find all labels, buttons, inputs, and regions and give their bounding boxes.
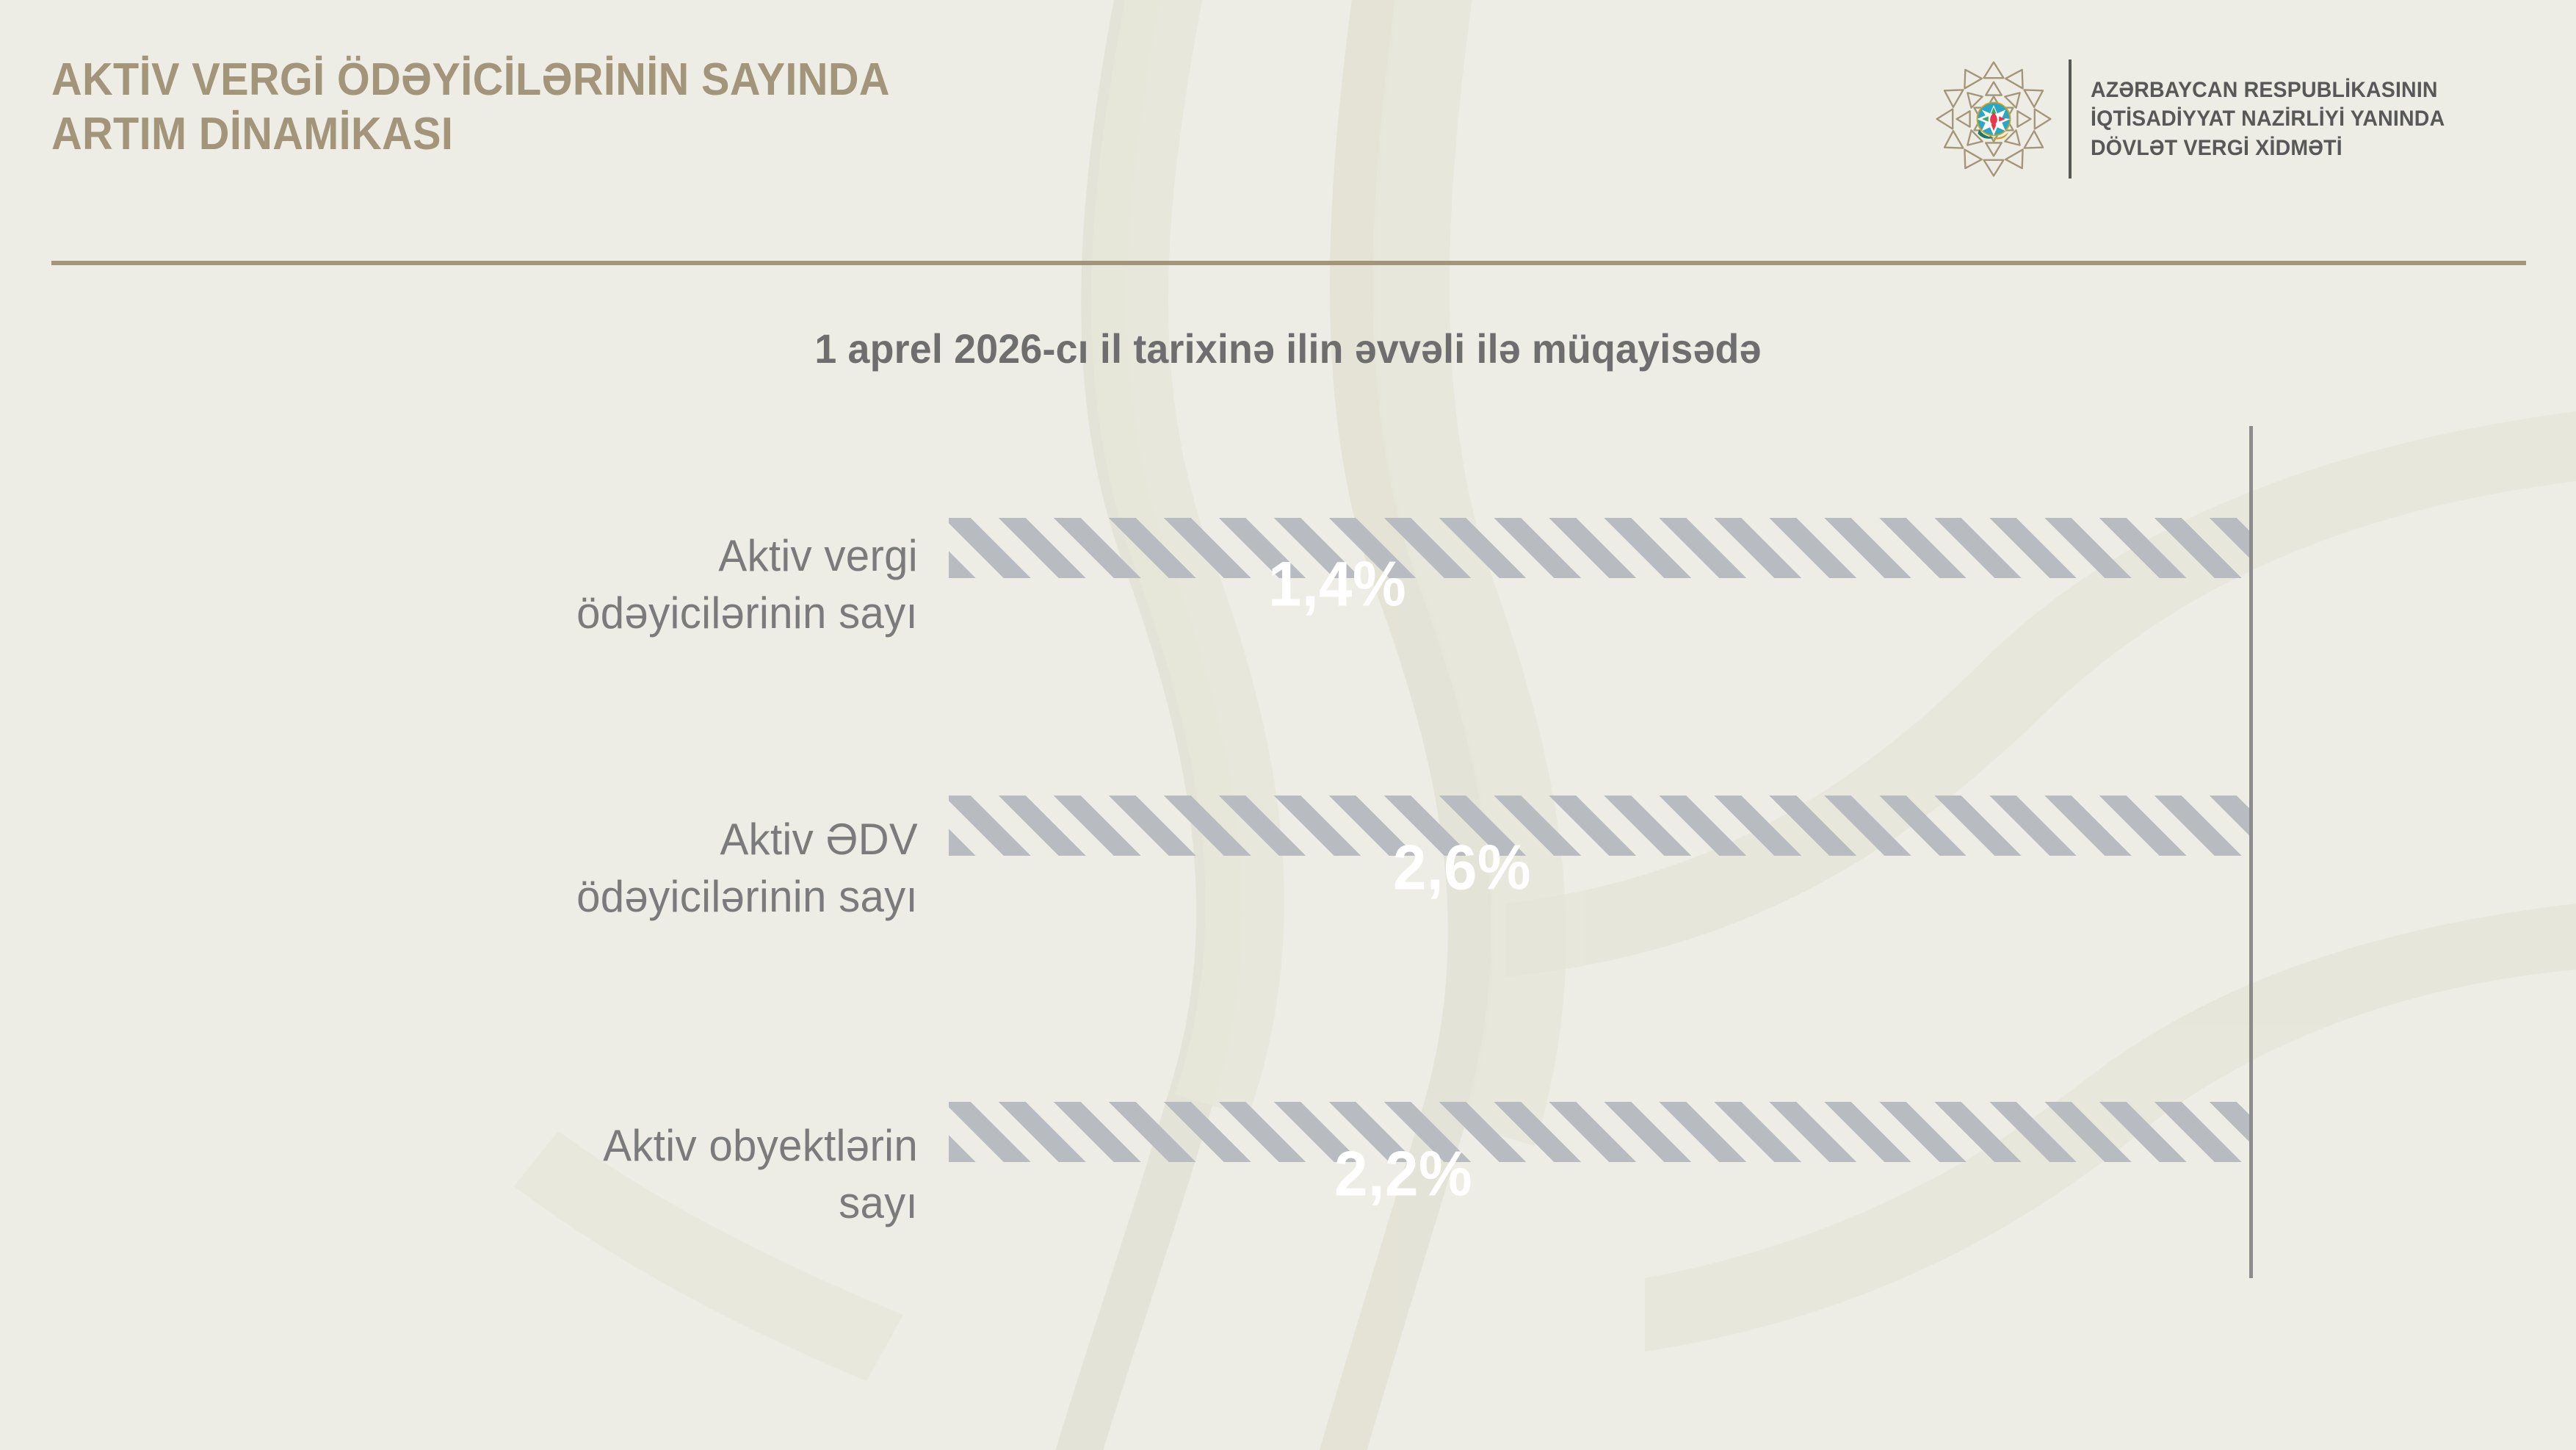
bar-value-label: 2,2% [1334, 1138, 1472, 1211]
bar-category-label: Aktiv obyektlərin sayı [206, 1117, 918, 1232]
bar-chart: Aktiv vergi ödəyicilərinin sayı 1,4% Akt… [0, 411, 2576, 1322]
bar-category-label: Aktiv vergi ödəyicilərinin sayı [206, 527, 918, 642]
logo-text-line-2: İQTİSADİYYAT NAZİRLİYİ YANINDA [2091, 104, 2445, 134]
title-divider-rule [51, 261, 2526, 265]
bar-row: Aktiv obyektlərin sayı 2,2% [0, 1069, 2576, 1280]
logo-divider [2069, 59, 2072, 178]
infographic-canvas: AKTİV VERGİ ÖDƏYİCİLƏRİNİN SAYINDA ARTIM… [0, 0, 2576, 1450]
bar-track[interactable]: 2,6% [949, 761, 2077, 975]
logo-text-line-1: AZƏRBAYCAN RESPUBLİKASININ [2091, 76, 2445, 105]
azerbaijan-state-emblem-icon [1928, 53, 2060, 185]
bar-value-label: 2,6% [1393, 832, 1531, 905]
page-title: AKTİV VERGİ ÖDƏYİCİLƏRİNİN SAYINDA ARTIM… [51, 53, 1622, 162]
bar-track[interactable]: 2,2% [949, 1069, 1903, 1280]
logo-text: AZƏRBAYCAN RESPUBLİKASININ İQTİSADİYYAT … [2091, 76, 2445, 163]
bar-value-label: 1,4% [1268, 549, 1406, 621]
bar-row: Aktiv vergi ödəyicilərinin sayı 1,4% [0, 485, 2576, 685]
logo-text-line-3: DÖVLƏT VERGİ XİDMƏTİ [2091, 134, 2445, 163]
bar-track[interactable]: 1,4% [949, 485, 1557, 685]
header: AKTİV VERGİ ÖDƏYİCİLƏRİNİN SAYINDA ARTIM… [0, 0, 2576, 272]
chart-subtitle: 1 aprel 2026-cı il tarixinə ilin əvvəli … [51, 325, 2525, 372]
bar-row: Aktiv ƏDV ödəyicilərinin sayı 2,6% [0, 761, 2576, 975]
organization-logo: AZƏRBAYCAN RESPUBLİKASININ İQTİSADİYYAT … [1928, 53, 2464, 185]
bar-category-label: Aktiv ƏDV ödəyicilərinin sayı [206, 811, 918, 926]
